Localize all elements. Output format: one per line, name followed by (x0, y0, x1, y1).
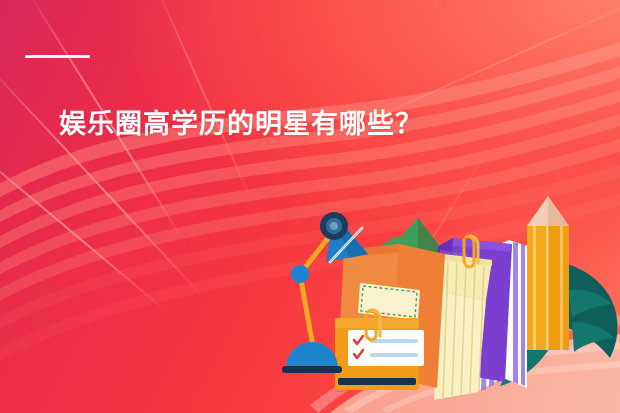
desk-illustration (0, 0, 620, 413)
clipboard-checklist-icon (335, 310, 424, 390)
pencil-icon (527, 196, 569, 350)
promo-banner: 娱乐圈高学历的明星有哪些？ (0, 0, 620, 413)
